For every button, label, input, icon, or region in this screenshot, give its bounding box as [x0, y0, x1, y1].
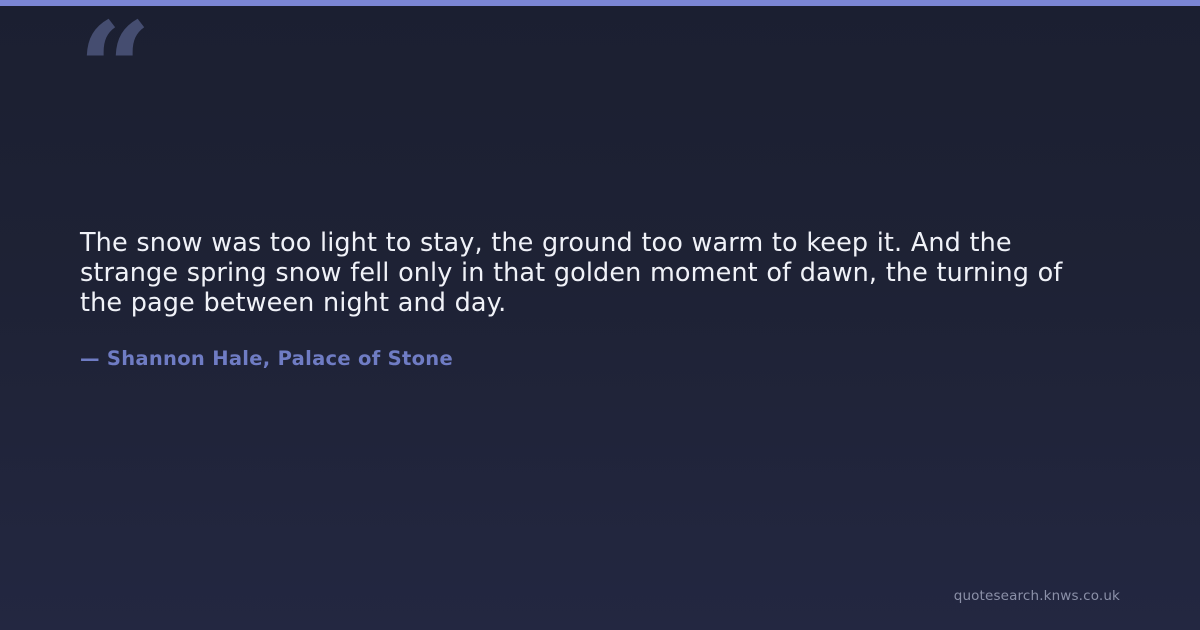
opening-quote-icon: “	[78, 6, 198, 116]
site-watermark: quotesearch.knws.co.uk	[954, 588, 1120, 604]
top-accent-bar	[0, 0, 1200, 6]
quote-text: The snow was too light to stay, the grou…	[80, 228, 1096, 318]
quote-content: The snow was too light to stay, the grou…	[80, 228, 1096, 372]
quote-attribution: — Shannon Hale, Palace of Stone	[80, 318, 1096, 372]
quote-card: “ The snow was too light to stay, the gr…	[0, 0, 1200, 630]
